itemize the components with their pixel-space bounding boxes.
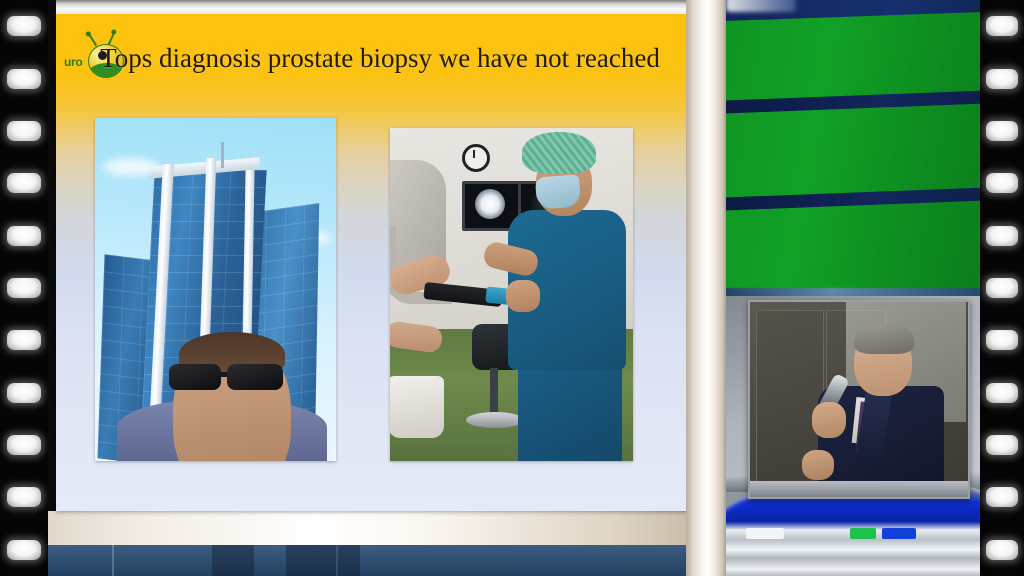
studio-desk-band <box>0 545 700 576</box>
film-perforation <box>7 69 41 89</box>
film-perforation <box>986 540 1018 560</box>
film-perforation <box>7 487 41 507</box>
skyscraper-selfie-photo[interactable] <box>95 118 336 461</box>
presentation-slide[interactable]: uro Tops diagnosis prostate biopsy we ha… <box>56 14 688 511</box>
podium-led-blue <box>882 528 916 539</box>
tower-spire <box>221 142 224 168</box>
film-perforation <box>7 540 41 560</box>
film-perforation <box>986 121 1018 141</box>
operating-room-photo[interactable] <box>390 128 633 461</box>
film-perforation <box>986 16 1018 36</box>
video-frame: uro Tops diagnosis prostate biopsy we ha… <box>0 0 1024 576</box>
wall-stripe-2 <box>718 186 1008 211</box>
room-rail <box>750 481 968 497</box>
film-perforation <box>7 435 41 455</box>
film-perforation <box>7 383 41 403</box>
chroma-green-wall <box>718 0 1008 300</box>
stool-base <box>466 412 524 428</box>
stool-column <box>490 368 498 416</box>
slide-top-edge <box>56 0 688 14</box>
slide-title: Tops diagnosis prostate biopsy we have n… <box>100 40 660 76</box>
film-perforation <box>7 226 41 246</box>
speaker-hand-gesture <box>802 450 834 480</box>
film-perforation <box>986 226 1018 246</box>
speaker-picture-in-picture[interactable] <box>748 300 970 499</box>
film-perforation <box>7 330 41 350</box>
podium-led-green <box>850 528 876 539</box>
studio-wall-band <box>0 511 700 545</box>
film-perforation <box>7 16 41 36</box>
film-perforation <box>986 487 1018 507</box>
speaker-hair <box>854 324 914 354</box>
surgeon-trousers <box>518 364 622 461</box>
film-perforation <box>986 69 1018 89</box>
film-perforation <box>986 173 1018 193</box>
film-perforation <box>986 383 1018 403</box>
film-perforation <box>7 278 41 298</box>
bee-antenna-left <box>89 34 98 46</box>
speaker-hand-mic <box>812 402 846 438</box>
film-perforation <box>7 121 41 141</box>
waste-bin <box>390 376 444 438</box>
wall-stripe-1 <box>718 89 1008 114</box>
surgeon-hand <box>506 280 540 312</box>
podium-led-white <box>746 528 784 539</box>
wall-clock <box>462 144 490 172</box>
film-perforation <box>986 435 1018 455</box>
sunglasses <box>169 364 293 392</box>
surgical-cap <box>522 132 596 174</box>
studio-pillar <box>686 0 726 576</box>
film-perforation <box>986 278 1018 298</box>
film-strip-left <box>0 0 48 576</box>
logo-text: uro <box>64 55 82 69</box>
film-perforation <box>986 330 1018 350</box>
wall-light-glow <box>726 0 796 12</box>
film-perforation <box>7 173 41 193</box>
film-strip-right <box>980 0 1024 576</box>
